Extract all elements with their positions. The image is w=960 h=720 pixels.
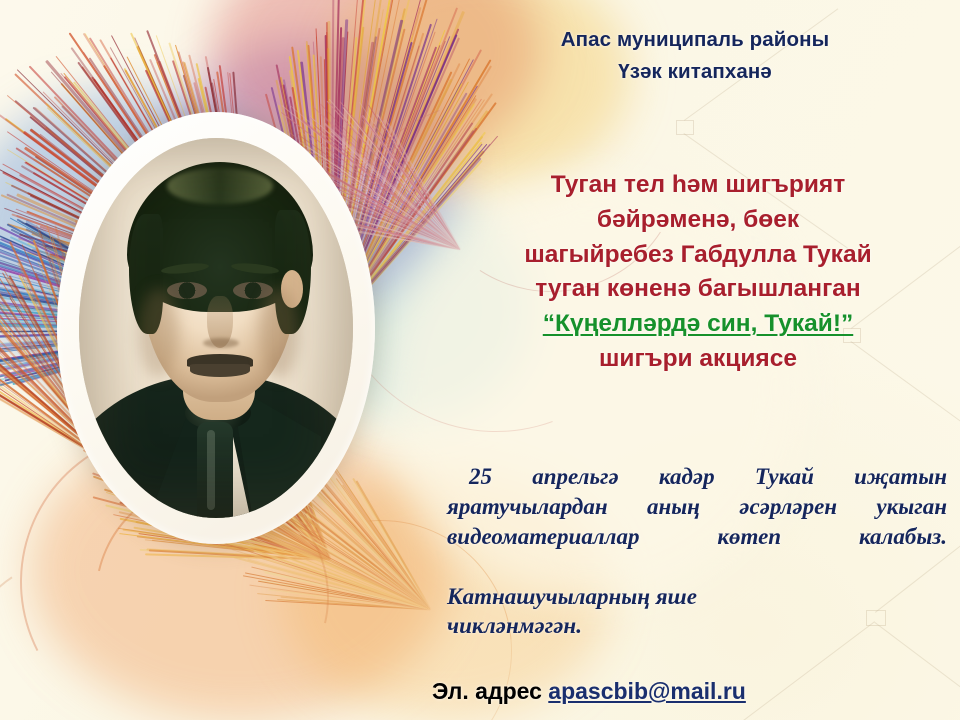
title-line-6: шигъри акциясе bbox=[452, 342, 944, 377]
title-highlight-campaign-name: “Күңелләрдә син, Тукай!” bbox=[543, 307, 853, 342]
portrait-photo bbox=[79, 138, 353, 518]
feather-quill bbox=[265, 600, 430, 611]
feather-quill bbox=[384, 119, 461, 250]
feather-quill bbox=[281, 596, 431, 610]
feather-quill bbox=[248, 542, 430, 610]
feather-quill bbox=[359, 101, 461, 250]
feather-quill bbox=[257, 592, 431, 611]
title-line-2: бәйрәменә, бөек bbox=[452, 203, 944, 238]
poster-canvas: Апас муниципаль районы Үзәк китапханә Ту… bbox=[0, 0, 960, 720]
feather-quill bbox=[352, 479, 431, 611]
feather-quill bbox=[365, 121, 461, 250]
email-link[interactable]: apascbib@mail.ru bbox=[548, 678, 746, 704]
feather-quill bbox=[149, 549, 331, 561]
title-line-4: туган көненә багышланган bbox=[452, 272, 944, 307]
feather-quill bbox=[251, 554, 431, 611]
feather-quill bbox=[222, 542, 431, 610]
title-line-1: Туган тел һәм шигърият bbox=[452, 168, 944, 203]
feather-quill bbox=[245, 572, 431, 610]
feather-quill bbox=[368, 105, 461, 251]
feather-quill bbox=[379, 115, 462, 250]
feather-quill bbox=[373, 124, 460, 251]
feather-quill bbox=[362, 119, 461, 250]
feather-quill bbox=[258, 580, 431, 610]
feather-quill bbox=[356, 481, 432, 611]
event-title: Туган тел һәм шигърият бәйрәменә, бөек ш… bbox=[452, 168, 944, 377]
feather-quill bbox=[145, 554, 331, 561]
feather-quill bbox=[237, 531, 431, 610]
feather-quill bbox=[140, 549, 331, 561]
feather-quill bbox=[361, 116, 461, 251]
body-paragraph-2-line-1: Катнашучыларның яше bbox=[447, 582, 947, 612]
feather-quill bbox=[251, 531, 431, 611]
title-line-3: шагыйребез Габдулла Тукай bbox=[452, 238, 944, 273]
body-paragraph-2-line-2: чикләнмәгән. bbox=[447, 611, 947, 641]
feather-quill bbox=[277, 599, 430, 610]
feather-quill bbox=[248, 525, 431, 610]
contact-line: Эл. адрес apascbib@mail.ru bbox=[432, 678, 952, 705]
feather-quill bbox=[145, 539, 331, 560]
feather-quill bbox=[251, 566, 431, 611]
org-line-2: Үзәк китапханә bbox=[450, 56, 940, 88]
feather-quill bbox=[237, 544, 431, 611]
feather-quill bbox=[342, 484, 431, 610]
feather-quill bbox=[146, 549, 330, 561]
org-line-1: Апас муниципаль районы bbox=[450, 24, 940, 56]
feather-quill bbox=[343, 107, 462, 251]
body-paragraph-1: 25 апрельгә кадәр Тукай иҗатын яратучыла… bbox=[447, 462, 947, 582]
watermark-box-icon bbox=[676, 120, 694, 135]
feather-quill bbox=[258, 531, 432, 611]
email-label: Эл. адрес bbox=[432, 678, 548, 704]
organization-header: Апас муниципаль районы Үзәк китапханә bbox=[450, 24, 940, 88]
feather-quill bbox=[220, 533, 431, 610]
feather-quill bbox=[253, 550, 431, 611]
feather-quill bbox=[361, 115, 461, 251]
feather-quill bbox=[260, 580, 431, 611]
feather-quill bbox=[268, 590, 431, 611]
feather-quill bbox=[346, 117, 462, 250]
feather-quill bbox=[352, 483, 431, 611]
feather-quill bbox=[269, 588, 430, 610]
feather-quill bbox=[243, 575, 431, 610]
feather-quill bbox=[388, 123, 461, 250]
feather-quill bbox=[152, 540, 331, 561]
feather-quill bbox=[232, 549, 431, 611]
feather-quill bbox=[355, 483, 431, 610]
announcement-body: 25 апрельгә кадәр Тукай иҗатын яратучыла… bbox=[447, 462, 947, 641]
portrait-oval-frame bbox=[57, 112, 375, 544]
feather-quill bbox=[340, 102, 461, 251]
swirl-ring-3 bbox=[0, 541, 188, 720]
feather-quill bbox=[249, 584, 430, 610]
feather-quill bbox=[247, 558, 431, 611]
feather-quill bbox=[262, 570, 431, 611]
feather-quill bbox=[377, 114, 461, 250]
feather-quill bbox=[264, 572, 431, 611]
photo-vignette bbox=[79, 138, 353, 518]
feather-quill bbox=[233, 556, 431, 610]
feather-quill bbox=[372, 126, 461, 250]
feather-quill bbox=[215, 531, 432, 611]
